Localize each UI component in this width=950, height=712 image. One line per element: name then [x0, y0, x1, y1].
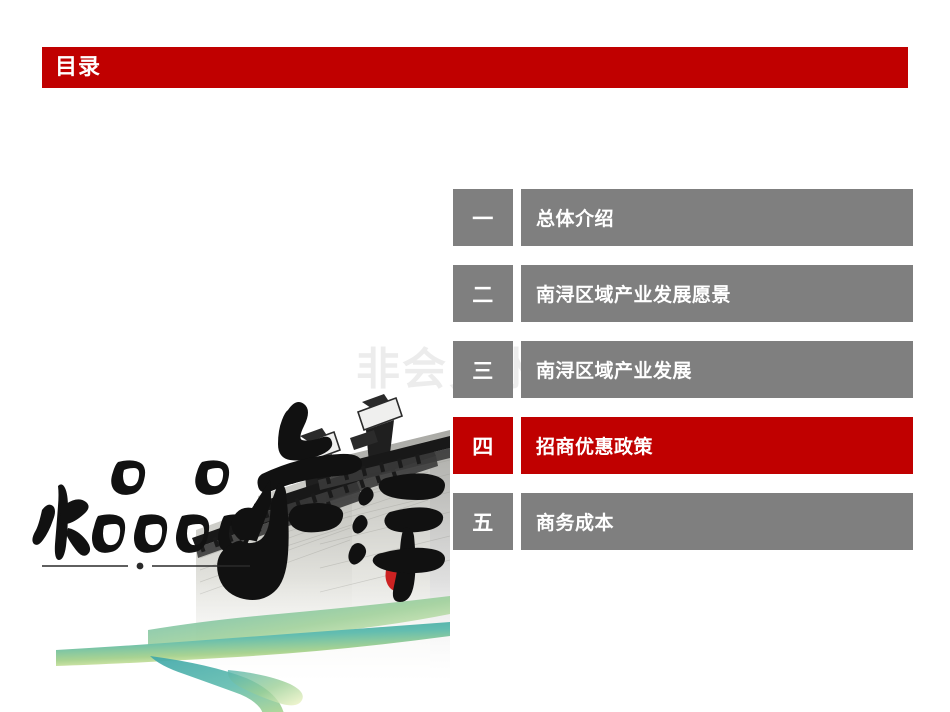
slide-header-bar: 目录 [42, 47, 908, 88]
agenda-item-1-number: 一 [453, 189, 513, 246]
agenda-item-5-label: 商务成本 [521, 493, 913, 550]
nanxun-logo-artwork: 水晶晶南浔 南浔 [0, 378, 450, 712]
agenda-item-5-number: 五 [453, 493, 513, 550]
agenda-item-1[interactable]: 一 总体介绍 [453, 189, 913, 246]
agenda-item-1-label: 总体介绍 [521, 189, 913, 246]
agenda-item-4-label: 招商优惠政策 [521, 417, 913, 474]
agenda-item-4-number: 四 [453, 417, 513, 474]
agenda-list: 一 总体介绍 二 南浔区域产业发展愿景 三 南浔区域产业发展 四 招商优惠政策 … [453, 189, 913, 550]
page-title: 目录 [55, 57, 101, 79]
slide-canvas: 目录 非会员水印 [0, 0, 950, 712]
agenda-item-5[interactable]: 五 商务成本 [453, 493, 913, 550]
agenda-item-2-label: 南浔区域产业发展愿景 [521, 265, 913, 322]
agenda-item-2-number: 二 [453, 265, 513, 322]
agenda-item-3-label: 南浔区域产业发展 [521, 341, 913, 398]
agenda-item-2[interactable]: 二 南浔区域产业发展愿景 [453, 265, 913, 322]
agenda-item-4[interactable]: 四 招商优惠政策 [453, 417, 913, 474]
agenda-item-3[interactable]: 三 南浔区域产业发展 [453, 341, 913, 398]
agenda-item-3-number: 三 [453, 341, 513, 398]
